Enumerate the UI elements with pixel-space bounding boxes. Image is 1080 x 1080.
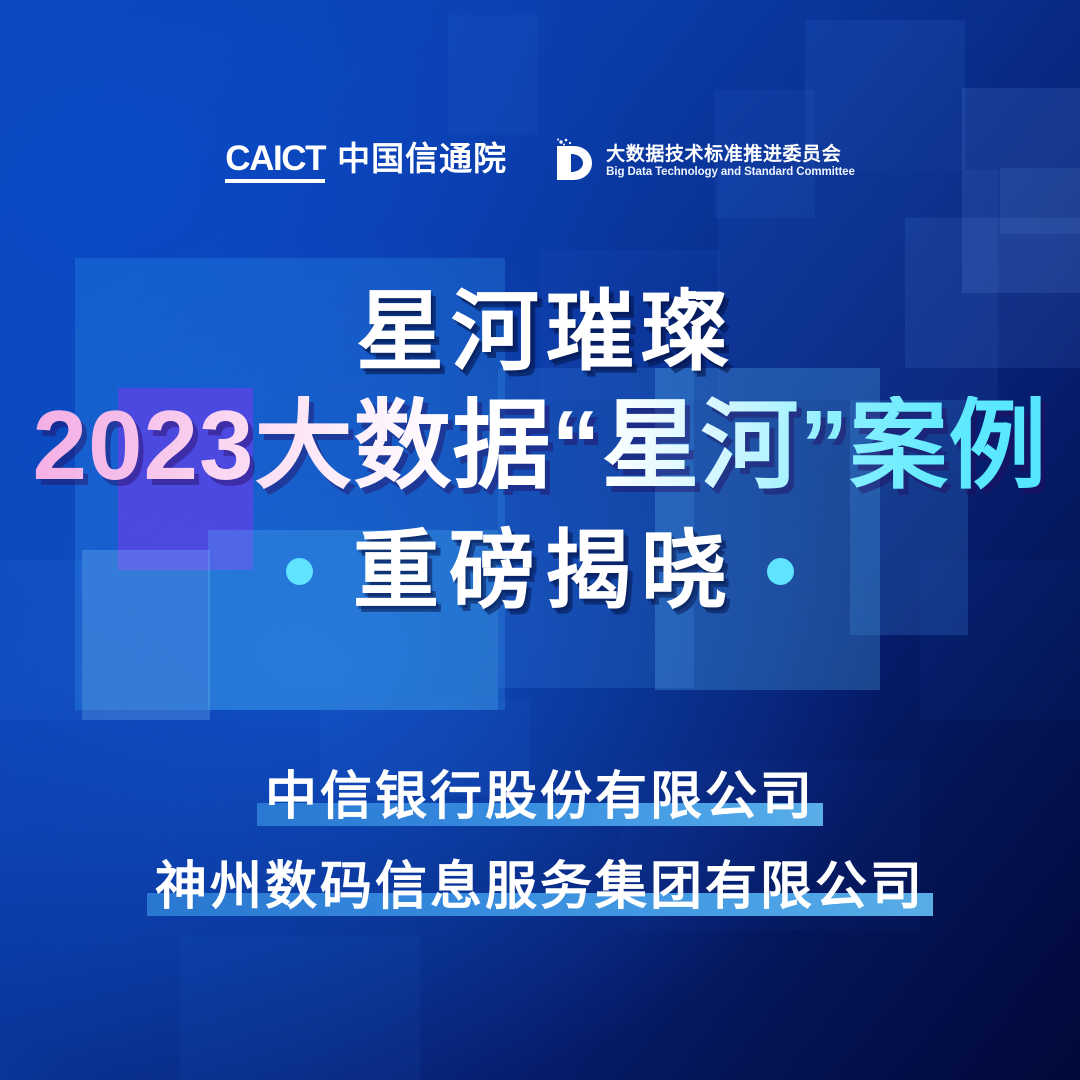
winner-row: 神州数码信息服务集团有限公司 [0, 824, 1080, 914]
bdtsc-d-icon [551, 138, 595, 186]
background-block [180, 935, 420, 1080]
poster-root: CAICT 中国信通院 大数据技术标准推进委员会 Big Data Techno… [0, 0, 1080, 1080]
bdtsc-chinese-label: 大数据技术标准推进委员会 [606, 145, 855, 164]
bullet-dot-right-icon [767, 558, 794, 585]
background-block [448, 15, 538, 135]
headline-block: 星河璀璨 2023大数据“星河”案例 重磅揭晓 [0, 288, 1080, 614]
caict-wordmark: CAICT [225, 141, 325, 183]
bullet-dot-left-icon [286, 558, 313, 585]
winners-block: 中信银行股份有限公司 神州数码信息服务集团有限公司 [0, 770, 1080, 914]
headline-line-2: 2023大数据“星河”案例 [0, 396, 1080, 494]
bdtsc-text-block: 大数据技术标准推进委员会 Big Data Technology and Sta… [606, 145, 855, 179]
winner-name: 神州数码信息服务集团有限公司 [147, 860, 933, 914]
headline-line-1: 星河璀璨 [0, 288, 1080, 376]
caict-logo: CAICT 中国信通院 [225, 141, 507, 183]
headline-line-3-row: 重磅揭晓 [0, 528, 1080, 614]
bdtsc-logo: 大数据技术标准推进委员会 Big Data Technology and Sta… [551, 138, 855, 186]
winner-name: 中信银行股份有限公司 [257, 770, 823, 824]
caict-chinese-label: 中国信通院 [337, 142, 507, 175]
winner-row: 中信银行股份有限公司 [0, 770, 1080, 824]
bdtsc-english-label: Big Data Technology and Standard Committ… [606, 167, 855, 179]
header-logos: CAICT 中国信通院 大数据技术标准推进委员会 Big Data Techno… [0, 138, 1080, 186]
headline-line-3: 重磅揭晓 [343, 528, 737, 614]
